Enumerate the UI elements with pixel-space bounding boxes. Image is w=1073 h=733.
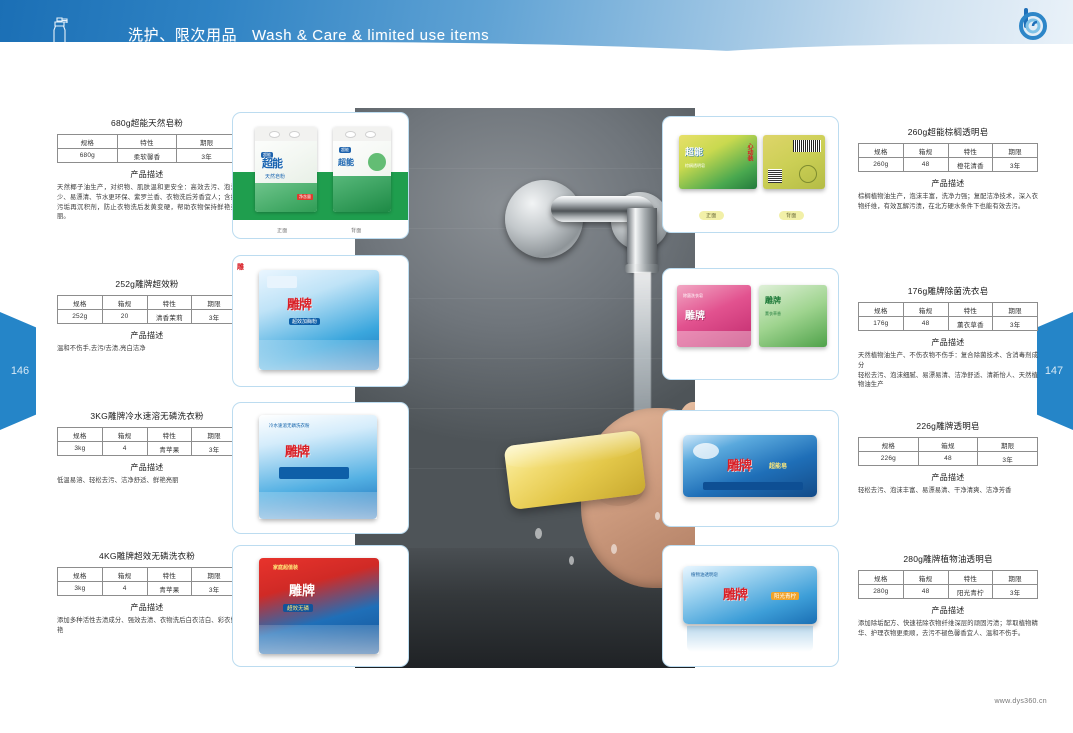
cell-value: 3年 [993,585,1038,599]
product-info-card-1: 680g超能天然皂粉 规格 特性 期限 680g 柔软馨香 3年 产品描述 天然… [57,117,237,222]
description-text: 天然椰子油生产，对织物、肌肤温和更安全：高效去污、泡沫少、易漂清、节水更环保、紫… [57,183,237,222]
page-number-right: 147 [1037,365,1073,377]
cell-value: 252g [58,310,103,324]
description-text: 添加除垢配方、快速祛除衣物纤维深层的顽固污渍；萃取植物精华、护理衣物更柔顺，去污… [858,619,1038,639]
description-text: 天然植物油生产、不伤衣物不伤手：复合除菌技术、含消毒剂成分 轻松去污、泡沫细腻、… [858,351,1038,390]
col-header: 期限 [177,135,237,149]
reflection [687,626,813,652]
product-info-card-2: 252g雕牌超效粉 规格 箱规 特性 期限 252g 20 清香茉莉 3年 产品… [57,278,237,354]
caption-front: 正面 [699,211,724,220]
spec-table: 规格 箱规 特性 期限 280g 48 阳光青柠 3年 [858,570,1038,599]
description-heading: 产品描述 [858,605,1038,616]
cell-value: 4 [102,442,147,456]
table-header-row: 规格 箱规 特性 期限 [58,296,237,310]
col-header: 特性 [147,428,192,442]
product-title: 252g雕牌超效粉 [57,278,237,290]
product-image-card-5[interactable]: 超能 棕榈透明皂 心动装 正面 背面 [662,116,839,233]
detergent-bag-back: 超能 超能 [333,127,391,212]
product-title: 260g超能棕榈透明皂 [858,126,1038,138]
page-number-tab-right[interactable]: 147 [1037,312,1073,430]
table-row: 226g 48 3年 [859,452,1038,466]
table-header-row: 规格 箱规 特性 期限 [859,144,1038,158]
product-image-card-8[interactable]: 植物油透明皂 雕牌 阳光青柠 [662,545,839,667]
product-image-card-3[interactable]: 冷水速溶无磷洗衣粉 雕牌 [232,402,409,534]
col-header: 特性 [948,303,993,317]
faucet-spout-down [627,208,657,270]
detergent-bag-diao: 雕牌 超效加酶粉 [259,270,379,370]
cell-value: 280g [859,585,904,599]
cell-value: 青苹果 [147,582,192,596]
table-header-row: 规格 箱规 特性 期限 [859,303,1038,317]
spiral-b-logo-icon [1012,6,1054,44]
product-image-card-7[interactable]: 雕牌 超能皂 [662,410,839,527]
col-header: 特性 [147,568,192,582]
col-header: 箱规 [903,144,948,158]
col-header: 期限 [993,303,1038,317]
product-info-card-6: 176g雕牌除菌洗衣皂 规格 箱规 特性 期限 176g 48 薰衣草香 3年 … [858,285,1038,390]
description-text: 温和不伤手,去污/去渍,亮白洁净 [57,344,237,354]
cell-value: 48 [918,452,978,466]
description-text: 低温易溶、轻松去污、洁净舒适、鲜艳亮丽 [57,476,237,486]
col-header: 规格 [859,438,919,452]
page-number-tab-left[interactable]: 146 [0,312,36,430]
product-title: 3KG雕牌冷水速溶无磷洗衣粉 [57,410,237,422]
cell-value: 阳光青柠 [948,585,993,599]
cell-value: 680g [58,149,118,163]
col-header: 期限 [192,428,237,442]
description-text: 轻松去污、泡沫丰富、易漂易清、干净清爽、洁净芳香 [858,486,1038,496]
col-header: 箱规 [903,303,948,317]
detergent-bag-super-value: 家庭超值装 雕牌 超效无磷 [259,558,379,654]
table-row: 176g 48 薰衣草香 3年 [859,317,1038,331]
cell-value: 226g [859,452,919,466]
description-heading: 产品描述 [57,330,237,341]
cell-value: 20 [102,310,147,324]
table-header-row: 规格 箱规 特性 期限 [58,428,237,442]
col-header: 期限 [192,568,237,582]
footer-url[interactable]: www.dys360.cn [994,698,1047,705]
col-header: 规格 [58,428,103,442]
caption-front: 正面 [277,227,288,234]
soap-box-back [763,135,825,189]
product-info-card-7: 226g雕牌透明皂 规格 箱规 期限 226g 48 3年 产品描述 轻松去污、… [858,420,1038,496]
table-row: 3kg 4 青苹果 3年 [58,582,237,596]
description-text: 添加多种活性去渍成分、强效去渍、衣物洗后白衣洁白、彩衣鲜艳 [57,616,237,636]
table-row: 252g 20 清香茉莉 3年 [58,310,237,324]
product-image-card-2[interactable]: 雕牌 超效加酶粉 雕 [232,255,409,387]
cell-value: 青苹果 [147,442,192,456]
spec-table: 规格 箱规 特性 期限 252g 20 清香茉莉 3年 [57,295,237,324]
col-header: 期限 [993,144,1038,158]
col-header: 箱规 [102,296,147,310]
soap-bar-blue: 雕牌 超能皂 [683,435,817,497]
description-text: 棕榈植物油生产，泡沫丰富，洗净力强；复配洁净技术，深入衣物纤维，有效瓦解污渍，在… [858,192,1038,212]
description-heading: 产品描述 [858,337,1038,348]
caption-back: 背面 [779,211,804,220]
page-header: 洗护、限次用品 Wash & Care & limited use items … [0,0,1073,62]
cell-value: 176g [859,317,904,331]
product-title: 680g超能天然皂粉 [57,117,237,129]
product-title: 280g雕牌植物油透明皂 [858,553,1038,565]
soap-pack-pink: 除菌洗衣皂 雕牌 [677,285,751,347]
soap-pack-green: 雕牌 薰衣草香 [759,285,827,347]
cell-value: 3kg [58,582,103,596]
col-header: 期限 [978,438,1038,452]
col-header: 规格 [859,303,904,317]
cell-value: 3年 [978,452,1038,466]
description-heading: 产品描述 [858,178,1038,189]
product-title: 176g雕牌除菌洗衣皂 [858,285,1038,297]
cell-value: 清香茉莉 [147,310,192,324]
cell-value: 3年 [993,317,1038,331]
soap-box-front: 超能 棕榈透明皂 心动装 [679,135,757,189]
table-header-row: 规格 箱规 特性 期限 [58,568,237,582]
cell-value: 3年 [192,442,237,456]
col-header: 特性 [948,571,993,585]
cell-value: 48 [903,317,948,331]
product-info-card-3: 3KG雕牌冷水速溶无磷洗衣粉 规格 箱规 特性 期限 3kg 4 青苹果 3年 … [57,410,237,486]
page-number-left: 146 [0,365,36,377]
col-header: 期限 [993,571,1038,585]
product-image-card-1[interactable]: 超能 超能 天然皂粉 净含量 超能 超能 正面 背面 [232,112,409,239]
cell-value: 3kg [58,442,103,456]
product-info-card-5: 260g超能棕榈透明皂 规格 箱规 特性 期限 260g 48 橙花清香 3年 … [858,126,1038,212]
col-header: 规格 [58,568,103,582]
cell-value: 3年 [177,149,237,163]
col-header: 规格 [58,135,118,149]
col-header: 期限 [192,296,237,310]
header-curve-decoration-2 [630,44,1073,62]
description-heading: 产品描述 [858,472,1038,483]
col-header: 规格 [859,571,904,585]
spec-table: 规格 箱规 特性 期限 3kg 4 青苹果 3年 [57,427,237,456]
col-header: 箱规 [102,428,147,442]
col-header: 规格 [58,296,103,310]
product-image-card-6[interactable]: 除菌洗衣皂 雕牌 雕牌 薰衣草香 [662,268,839,380]
product-info-card-8: 280g雕牌植物油透明皂 规格 箱规 特性 期限 280g 48 阳光青柠 3年… [858,553,1038,639]
product-info-card-4: 4KG雕牌超效无磷洗衣粉 规格 箱规 特性 期限 3kg 4 青苹果 3年 产品… [57,550,237,636]
col-header: 特性 [117,135,177,149]
col-header: 特性 [147,296,192,310]
table-row: 260g 48 橙花清香 3年 [859,158,1038,172]
table-row: 680g 柔软馨香 3年 [58,149,237,163]
cell-value: 48 [903,158,948,172]
cell-value: 薰衣草香 [948,317,993,331]
caption-back: 背面 [351,227,362,234]
spec-table: 规格 特性 期限 680g 柔软馨香 3年 [57,134,237,163]
table-row: 3kg 4 青苹果 3年 [58,442,237,456]
diao-corner-mark: 雕 [237,262,244,272]
cell-value: 48 [903,585,948,599]
description-heading: 产品描述 [57,602,237,613]
description-heading: 产品描述 [57,169,237,180]
spec-table: 规格 箱规 特性 期限 260g 48 橙花清香 3年 [858,143,1038,172]
table-header-row: 规格 箱规 特性 期限 [859,571,1038,585]
product-image-card-4[interactable]: 家庭超值装 雕牌 超效无磷 [232,545,409,667]
col-header: 箱规 [903,571,948,585]
cell-value: 260g [859,158,904,172]
product-title: 4KG雕牌超效无磷洗衣粉 [57,550,237,562]
cell-value: 4 [102,582,147,596]
spec-table: 规格 箱规 特性 期限 3kg 4 青苹果 3年 [57,567,237,596]
table-row: 280g 48 阳光青柠 3年 [859,585,1038,599]
col-header: 规格 [859,144,904,158]
cell-value: 3年 [192,310,237,324]
table-header-row: 规格 箱规 期限 [859,438,1038,452]
cell-value: 3年 [993,158,1038,172]
table-header-row: 规格 特性 期限 [58,135,237,149]
spec-table: 规格 箱规 期限 226g 48 3年 [858,437,1038,466]
col-header: 箱规 [102,568,147,582]
soap-bar-vegetable-oil: 植物油透明皂 雕牌 阳光青柠 [683,566,817,624]
cell-value: 橙花清香 [948,158,993,172]
spec-table: 规格 箱规 特性 期限 176g 48 薰衣草香 3年 [858,302,1038,331]
col-header: 箱规 [918,438,978,452]
detergent-bag-front: 超能 超能 天然皂粉 净含量 [255,127,317,212]
diao-brand-text: 雕牌 [287,294,311,313]
product-title: 226g雕牌透明皂 [858,420,1038,432]
detergent-bag-cold-water: 冷水速溶无磷洗衣粉 雕牌 [259,415,377,519]
cell-value: 3年 [192,582,237,596]
description-heading: 产品描述 [57,462,237,473]
cell-value: 柔软馨香 [117,149,177,163]
col-header: 特性 [948,144,993,158]
